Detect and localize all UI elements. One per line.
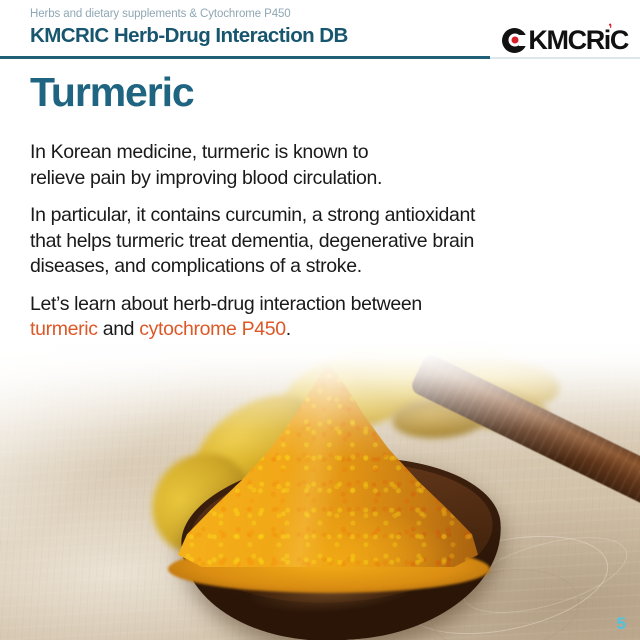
kmcric-logo[interactable]: ’ KMCRiC <box>502 25 628 55</box>
logo-wordmark-text: KMCRiC <box>528 25 628 55</box>
body-text: In Korean medicine, turmeric is known to… <box>30 141 382 189</box>
header-rule-dark <box>0 56 490 59</box>
body-text: Let’s learn about herb-drug interaction … <box>30 293 422 315</box>
paragraph-3: Let’s learn about herb-drug interaction … <box>30 292 620 343</box>
paragraph-2: In particular, it contains curcumin, a s… <box>30 203 620 280</box>
highlighted-term: turmeric <box>30 318 98 340</box>
slide-body-copy: In Korean medicine, turmeric is known to… <box>30 140 620 343</box>
slide-header: Herbs and dietary supplements & Cytochro… <box>0 0 640 60</box>
turmeric-photo <box>0 340 640 640</box>
header-title: KMCRIC Herb-Drug Interaction DB <box>30 24 348 48</box>
body-text: and <box>98 318 140 340</box>
body-text: In particular, it contains curcumin, a s… <box>30 204 475 277</box>
highlighted-term: cytochrome P450 <box>139 318 286 340</box>
header-eyebrow: Herbs and dietary supplements & Cytochro… <box>30 8 291 20</box>
page-number: 5 <box>617 615 626 632</box>
logo-wordmark: ’ KMCRiC <box>528 27 628 54</box>
body-text: . <box>286 318 291 340</box>
page-title: Turmeric <box>30 72 194 113</box>
kmcric-circle-mark-icon <box>502 28 527 53</box>
slide: Herbs and dietary supplements & Cytochro… <box>0 0 640 640</box>
paragraph-1: In Korean medicine, turmeric is known to… <box>30 140 620 191</box>
